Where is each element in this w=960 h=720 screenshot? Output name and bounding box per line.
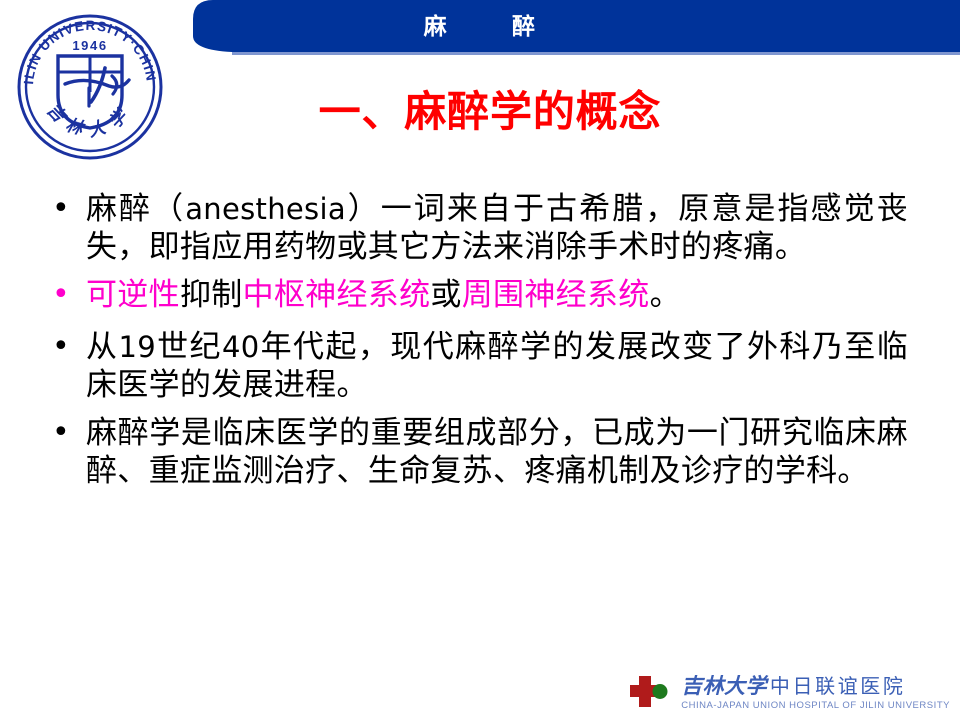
hospital-name-block: 吉林大学 中日联谊医院 CHINA-JAPAN UNION HOSPITAL O…: [681, 674, 950, 711]
text-run: 。: [650, 277, 681, 313]
slide-body: • 麻醉（anesthesia）一词来自于古希腊，原意是指感觉丧失，即指应用药物…: [52, 186, 908, 496]
hospital-name-en: CHINA-JAPAN UNION HOSPITAL OF JILIN UNIV…: [681, 700, 950, 711]
bullet-text-3: 从19世纪40年代起，现代麻醉学的发展改变了外科乃至临床医学的发展进程。: [86, 324, 908, 404]
bullet-text-2: 可逆性抑制中枢神经系统或周围神经系统。: [86, 272, 908, 314]
text-run: 19: [118, 330, 156, 364]
bullet-marker: •: [52, 324, 86, 370]
text-run: 世纪: [156, 329, 222, 365]
bullet-marker: •: [52, 410, 86, 456]
list-item: • 麻醉（anesthesia）一词来自于古希腊，原意是指感觉丧失，即指应用药物…: [52, 186, 908, 266]
text-run: 抑制: [180, 277, 243, 313]
text-run: 可逆性: [86, 277, 180, 313]
text-run: 周围神经系统: [462, 277, 650, 313]
bullet-text-1: 麻醉（anesthesia）一词来自于古希腊，原意是指感觉丧失，即指应用药物或其…: [86, 186, 908, 266]
text-run: 40: [222, 330, 260, 364]
list-item: • 从19世纪40年代起，现代麻醉学的发展改变了外科乃至临床医学的发展进程。: [52, 324, 908, 404]
bullet-marker: •: [52, 272, 86, 318]
text-run: 麻醉学是临床医学的重要组成部分，已成为一门研究临床麻醉、重症监测治疗、生命复苏、…: [86, 415, 908, 489]
hospital-name-cn: 吉林大学 中日联谊医院: [681, 674, 905, 698]
text-run: 中枢神经系统: [243, 277, 431, 313]
text-run: 麻醉（: [86, 191, 185, 227]
list-item: • 麻醉学是临床医学的重要组成部分，已成为一门研究临床麻醉、重症监测治疗、生命复…: [52, 410, 908, 490]
bullet-marker: •: [52, 186, 86, 232]
hospital-brand-cn: 吉林大学: [681, 674, 770, 698]
slide-title: 一、麻醉学的概念: [0, 78, 960, 139]
text-run: anesthesia: [185, 192, 346, 226]
hospital-cross-icon: [627, 672, 673, 712]
seal-year: 1946: [72, 38, 107, 53]
hospital-dept-cn: 中日联谊医院: [770, 674, 906, 698]
list-item: • 可逆性抑制中枢神经系统或周围神经系统。: [52, 272, 908, 318]
text-run: 从: [86, 329, 118, 365]
bullet-text-4: 麻醉学是临床医学的重要组成部分，已成为一门研究临床麻醉、重症监测治疗、生命复苏、…: [86, 410, 908, 490]
hospital-footer-logo: 吉林大学 中日联谊医院 CHINA-JAPAN UNION HOSPITAL O…: [627, 672, 950, 712]
text-run: 或: [430, 277, 461, 313]
